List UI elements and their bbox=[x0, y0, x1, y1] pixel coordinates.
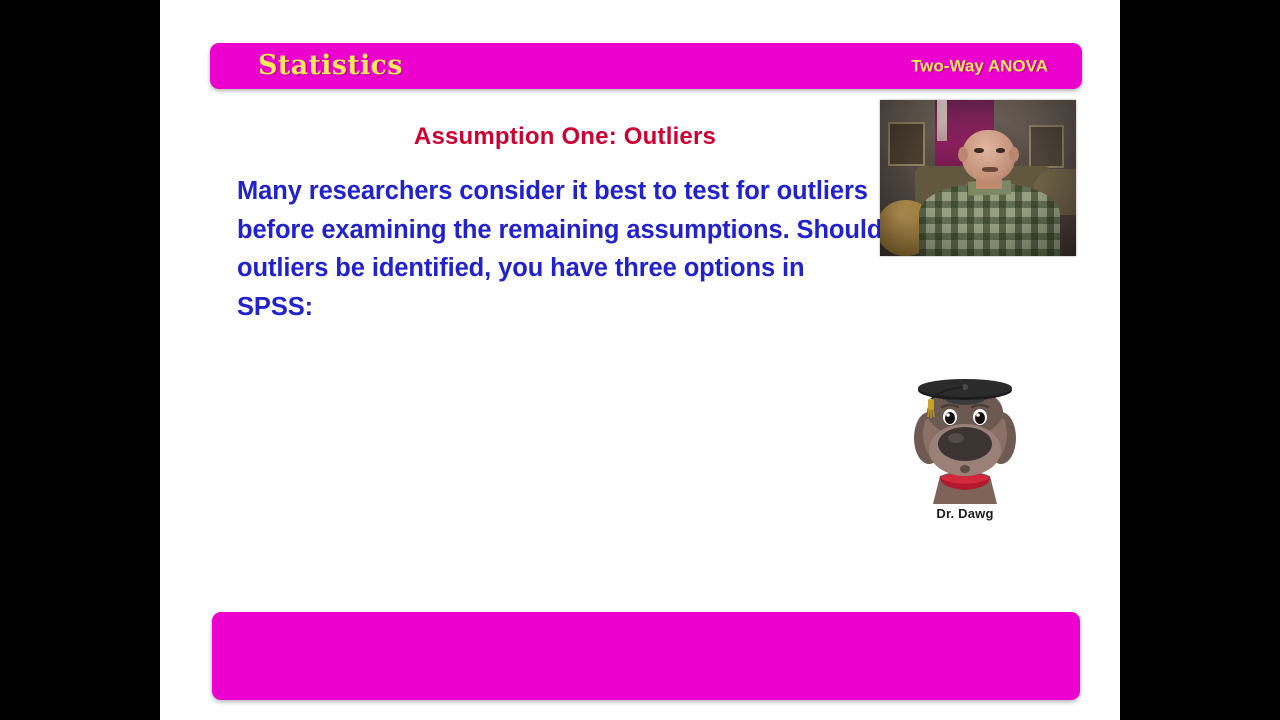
presenter-webcam-video[interactable] bbox=[880, 100, 1076, 256]
presentation-stage: Statistics Two-Way ANOVA Assumption One:… bbox=[0, 0, 1280, 720]
mascot: Dr. Dawg bbox=[900, 376, 1030, 526]
page-title: Statistics bbox=[258, 50, 403, 81]
webcam-vignette bbox=[880, 100, 1076, 256]
slide-footer-bar bbox=[212, 612, 1080, 700]
header-subtitle: Two-Way ANOVA bbox=[911, 56, 1048, 76]
assumption-heading: Assumption One: Outliers bbox=[220, 123, 910, 151]
body-paragraph: Many researchers consider it best to tes… bbox=[237, 172, 885, 326]
slide-header-bar: Statistics Two-Way ANOVA bbox=[210, 43, 1082, 89]
mascot-label: Dr. Dawg bbox=[900, 506, 1030, 521]
slide-canvas: Statistics Two-Way ANOVA Assumption One:… bbox=[160, 0, 1120, 720]
dog-graduate-icon bbox=[900, 376, 1030, 504]
